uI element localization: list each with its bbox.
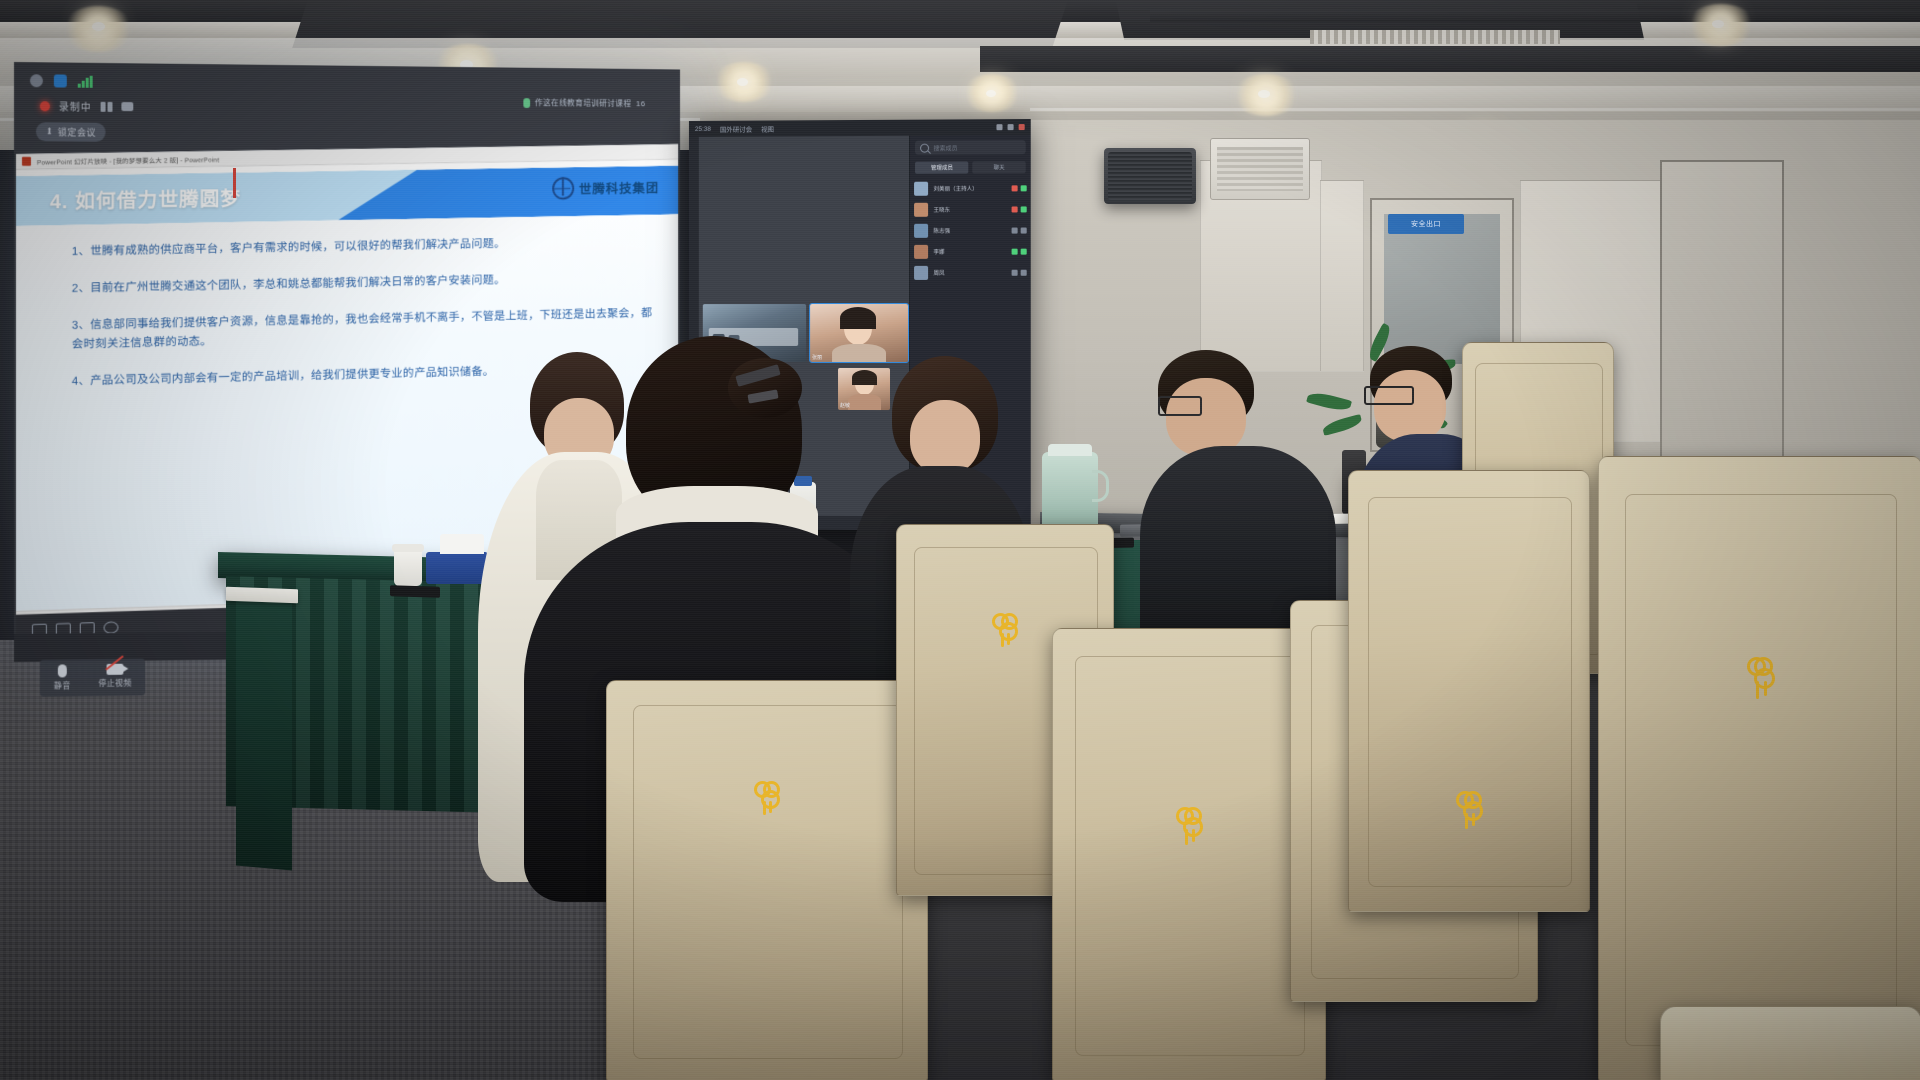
maximize-icon[interactable] (1008, 124, 1014, 130)
paper-cup (394, 548, 422, 586)
eyeglasses (1364, 386, 1414, 405)
slide-bullet: 2、目前在广州世腾交通这个团队，李总和姚总都能帮我们解决日常的客户安装问题。 (72, 268, 654, 298)
mute-label: 静音 (54, 680, 71, 691)
slide-bullet: 1、世腾有成熟的供应商平台，客户有需求的时候，可以很好的帮我们解决产品问题。 (72, 232, 654, 262)
play-icon[interactable] (104, 621, 119, 633)
participant-name: 王晓东 (933, 205, 1006, 213)
head (1166, 378, 1246, 456)
chair[interactable] (1598, 456, 1920, 1080)
chinese-knot-decoration (754, 781, 780, 815)
chinese-knot-decoration (1176, 807, 1202, 841)
microphone-icon (523, 98, 530, 108)
thermos (1042, 452, 1098, 530)
avatar (914, 202, 928, 216)
avatar (914, 244, 928, 258)
list-item[interactable]: 刘美丽（主持人） (914, 177, 1026, 199)
microphone-icon[interactable] (1012, 227, 1018, 233)
microphone-icon (58, 664, 67, 677)
avatar (914, 181, 928, 195)
head (1374, 370, 1446, 442)
microphone-icon[interactable] (1012, 269, 1018, 275)
meeting-title-bar: 作这在线教育培训研讨课程 16 (523, 97, 645, 109)
search-placeholder: 搜索成员 (933, 143, 957, 152)
camera-icon[interactable] (1021, 248, 1027, 254)
meeting-controls: 静音 停止视频 (40, 659, 146, 697)
speaking-indicator (233, 168, 236, 198)
list-item[interactable]: 陈志强 (914, 219, 1026, 240)
lock-meeting-label: 锁定会议 (58, 125, 96, 138)
microphone-icon[interactable] (1012, 206, 1018, 212)
meeting-title-text: 作这在线教育培训研讨课程 (535, 97, 631, 109)
thermos-lid (1048, 444, 1092, 456)
chinese-knot-decoration (992, 613, 1018, 647)
participant-name: 陈志强 (933, 226, 1006, 234)
recording-indicator: 录制中 (40, 98, 133, 114)
avatar (914, 265, 928, 279)
chair[interactable] (1660, 1006, 1920, 1080)
camera-icon[interactable] (1021, 185, 1027, 191)
recording-label: 录制中 (59, 98, 92, 113)
info-icon[interactable] (30, 74, 43, 87)
participant-name: 刘美丽（主持人） (933, 184, 1006, 192)
tab-chat[interactable]: 聊天 (972, 161, 1025, 173)
cup-lid (392, 544, 424, 552)
list-item[interactable]: 李娜 (914, 241, 1026, 262)
chair[interactable] (1348, 470, 1588, 910)
eyeglasses (1158, 396, 1202, 416)
view-label[interactable]: 视图 (761, 123, 774, 133)
search-icon (920, 143, 929, 152)
company-logo: 世腾科技集团 (552, 176, 659, 200)
meeting-window-titlebar: 25:38 国外研讨会 视图 (689, 119, 1031, 137)
camera-off-icon (107, 664, 124, 675)
participant-name: 李娜 (933, 247, 1006, 255)
stop-video-label: 停止视频 (98, 678, 131, 689)
stop-icon[interactable] (121, 102, 133, 111)
powerpoint-icon (22, 157, 31, 166)
microphone-icon[interactable] (1012, 185, 1018, 191)
sidebar-tabs: 管理成员 聊天 (910, 159, 1030, 178)
participant-name: 周凤 (933, 268, 1006, 276)
meeting-id-label[interactable]: 国外研讨会 (720, 124, 752, 134)
participants-badge: 16 (636, 99, 645, 108)
globe-icon (552, 177, 574, 200)
pin-icon (46, 127, 53, 136)
signal-icon (78, 75, 92, 87)
slide-header: 4. 如何借力世腾圆梦 世腾科技集团 (16, 160, 678, 232)
mute-button[interactable]: 静音 (54, 664, 71, 691)
meeting-status-icons (30, 74, 92, 88)
table-corner (236, 586, 292, 871)
record-dot-icon (40, 101, 50, 111)
tab-participants[interactable]: 管理成员 (915, 161, 968, 173)
chinese-knot-decoration (1456, 791, 1482, 825)
slide-title: 4. 如何借力世腾圆梦 (50, 182, 241, 214)
phone[interactable] (390, 585, 440, 598)
avatar (914, 223, 928, 237)
exit-sign: 安全出口 (1388, 214, 1464, 234)
powerpoint-title: PowerPoint 幻灯片放映 - [我的梦想要么大 2 版] - Power… (37, 153, 219, 166)
camera-icon[interactable] (1021, 227, 1027, 233)
participant-list: 刘美丽（主持人） 王晓东 陈志强 李娜 (910, 177, 1030, 283)
camera-icon[interactable] (1021, 206, 1027, 212)
company-name: 世腾科技集团 (579, 178, 659, 198)
microphone-icon[interactable] (1012, 248, 1018, 254)
shield-icon[interactable] (54, 74, 67, 87)
chinese-knot-decoration (1747, 657, 1773, 691)
list-item[interactable]: 王晓东 (914, 198, 1026, 219)
head (910, 400, 980, 474)
list-item[interactable]: 周凤 (914, 262, 1026, 283)
close-icon[interactable] (1019, 124, 1025, 130)
search-input[interactable]: 搜索成员 (915, 140, 1025, 155)
camera-icon[interactable] (1021, 269, 1027, 275)
stop-video-button[interactable]: 停止视频 (98, 664, 131, 689)
meeting-timer: 25:38 (695, 125, 711, 132)
lock-meeting-button[interactable]: 锁定会议 (36, 122, 106, 142)
pause-icon[interactable] (101, 101, 113, 111)
chair[interactable] (606, 680, 926, 1080)
minimize-icon[interactable] (996, 124, 1002, 130)
conference-room-scene: 安全出口 录制中 (0, 0, 1920, 1080)
chair[interactable] (1052, 628, 1324, 1080)
ceiling-speaker (1104, 148, 1196, 204)
notepad (226, 587, 298, 604)
thermos-handle (1092, 470, 1109, 502)
